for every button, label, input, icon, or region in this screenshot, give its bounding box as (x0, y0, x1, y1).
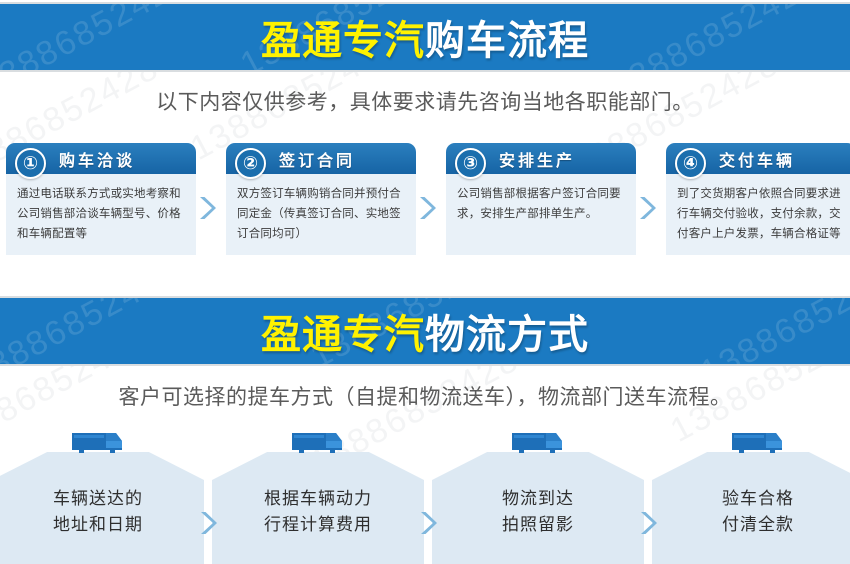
chevron-right-icon (198, 195, 216, 221)
step-number-badge: ③ (455, 148, 486, 179)
watermark-text: 13886852428 (0, 298, 186, 364)
chevron-right-icon (419, 510, 437, 536)
brand-name: 盈通专汽 (261, 18, 425, 64)
step-header: ② 签订合同 (226, 143, 416, 174)
truck-icon (290, 430, 346, 456)
step-card: ③ 安排生产 公司销售部根据客户签订合同要求，安排生产部排单生产。 (446, 143, 636, 255)
step-title: 交付车辆 (719, 147, 795, 171)
purchase-steps-row: ① 购车洽谈 通过电话联系方式或实地考察和公司销售部洽谈车辆型号、价格和车辆配置… (0, 143, 850, 263)
logistics-caption: 客户可选择的提车方式（自提和物流送车），物流部门送车流程。 (0, 381, 850, 411)
purchase-banner: 13886852428 13886852428 13886852428 盈通专汽… (0, 2, 850, 72)
flow-label: 验车合格 付清全款 (652, 486, 850, 539)
truck-icon (510, 430, 566, 456)
step-title: 安排生产 (499, 147, 575, 171)
step-body: 到了交货期客户依照合同要求进行车辆交付验收，支付余款，交付客户上户发票，车辆合格… (666, 174, 850, 255)
flow-label-line2: 付清全款 (652, 512, 850, 538)
banner-subtitle: 购车流程 (425, 18, 589, 64)
flow-label-line1: 物流到达 (432, 486, 644, 512)
logistics-flow-row: 车辆送达的 地址和日期 根据车辆动力 行程计算费用 (0, 428, 850, 564)
flow-label-line2: 拍照留影 (432, 512, 644, 538)
purchase-banner-title: 盈通专汽购车流程 (261, 8, 589, 66)
step-number-badge: ① (15, 148, 46, 179)
flow-label: 物流到达 拍照留影 (432, 486, 644, 539)
step-title: 购车洽谈 (59, 147, 135, 171)
step-body: 公司销售部根据客户签订合同要求，安排生产部排单生产。 (446, 174, 636, 255)
flow-item: 根据车辆动力 行程计算费用 (212, 428, 424, 564)
chevron-right-icon (418, 195, 436, 221)
step-header: ① 购车洽谈 (6, 143, 196, 174)
step-title: 签订合同 (279, 147, 355, 171)
flow-label-line2: 地址和日期 (0, 512, 204, 538)
watermark-text: 13886852428 (604, 4, 825, 70)
flow-item: 验车合格 付清全款 (652, 428, 850, 564)
chevron-right-icon (638, 195, 656, 221)
watermark-text: 13886852428 (694, 298, 850, 364)
flow-label: 根据车辆动力 行程计算费用 (212, 486, 424, 539)
step-header: ④ 交付车辆 (666, 143, 850, 174)
flow-item: 车辆送达的 地址和日期 (0, 428, 204, 564)
flow-label-line1: 根据车辆动力 (212, 486, 424, 512)
step-card: ② 签订合同 双方签订车辆购销合同并预付合同定金（传真签订合同、实地签订合同均可… (226, 143, 416, 255)
step-body: 通过电话联系方式或实地考察和公司销售部洽谈车辆型号、价格和车辆配置等 (6, 174, 196, 255)
chevron-right-icon (639, 510, 657, 536)
brand-name: 盈通专汽 (261, 312, 425, 358)
step-card: ① 购车洽谈 通过电话联系方式或实地考察和公司销售部洽谈车辆型号、价格和车辆配置… (6, 143, 196, 255)
watermark-text: 13886852428 (0, 4, 196, 70)
step-body: 双方签订车辆购销合同并预付合同定金（传真签订合同、实地签订合同均可） (226, 174, 416, 255)
flow-label-line2: 行程计算费用 (212, 512, 424, 538)
banner-subtitle: 物流方式 (425, 312, 589, 358)
truck-icon (730, 430, 786, 456)
step-number-badge: ② (235, 148, 266, 179)
step-header: ③ 安排生产 (446, 143, 636, 174)
flow-label: 车辆送达的 地址和日期 (0, 486, 204, 539)
logistics-banner-title: 盈通专汽物流方式 (261, 302, 589, 360)
flow-item: 物流到达 拍照留影 (432, 428, 644, 564)
flow-label-line1: 验车合格 (652, 486, 850, 512)
step-number-badge: ④ (675, 148, 706, 179)
truck-icon (70, 430, 126, 456)
step-card: ④ 交付车辆 到了交货期客户依照合同要求进行车辆交付验收，支付余款，交付客户上户… (666, 143, 850, 255)
purchase-caption: 以下内容仅供参考，具体要求请先咨询当地各职能部门。 (0, 86, 850, 116)
flow-label-line1: 车辆送达的 (0, 486, 204, 512)
chevron-right-icon (199, 510, 217, 536)
logistics-banner: 13886852428 13886852428 13886852428 盈通专汽… (0, 296, 850, 366)
